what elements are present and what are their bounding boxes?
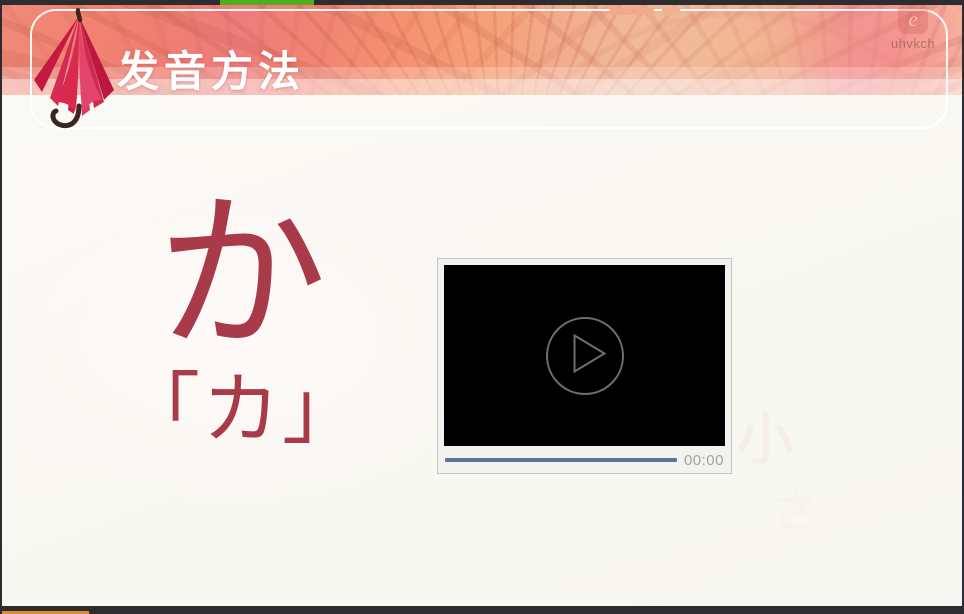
katakana-character: 「カ」 [62,370,422,452]
slide-root: 小 さ [0,0,964,614]
bottom-chrome-bar [2,606,964,614]
video-progress-bar[interactable] [445,458,677,462]
top-chrome-progress[interactable] [220,0,314,5]
banner-frame-gap-2 [662,7,680,15]
top-chrome-bar [2,0,964,5]
video-time-label: 00:00 [684,452,724,469]
play-icon[interactable] [566,330,610,381]
page-title: 发音方法 [117,38,305,99]
hiragana-character: か [62,190,422,360]
kana-block: か 「カ」 [62,190,422,452]
video-controls[interactable]: 00:00 [444,446,725,474]
banner-frame-gap-1 [610,7,654,15]
video-stage[interactable] [444,265,725,446]
video-player[interactable]: 00:00 [437,258,732,474]
